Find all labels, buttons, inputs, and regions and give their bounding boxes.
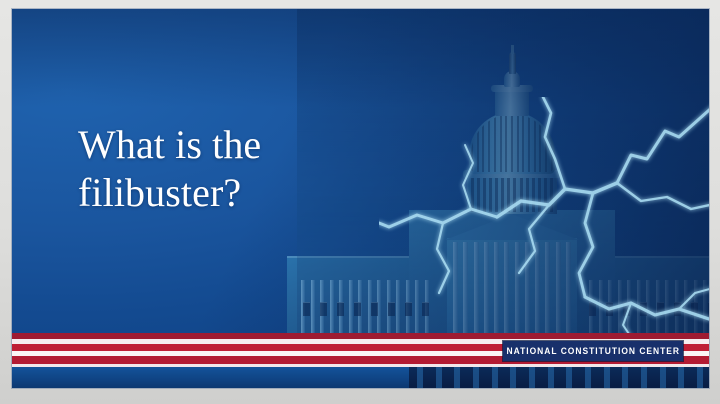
logo-text: NATIONAL CONSTITUTION CENTER	[506, 346, 679, 356]
headline-line-2: filibuster?	[78, 169, 408, 217]
slide-stage: What is the filibuster? NATIONAL CONSTIT…	[12, 9, 709, 388]
video-slide-card: What is the filibuster? NATIONAL CONSTIT…	[0, 0, 720, 404]
stripe-white-3	[12, 364, 709, 367]
lower-colonnade	[417, 367, 703, 388]
page-title: What is the filibuster?	[78, 121, 408, 217]
headline-line-1: What is the	[78, 121, 408, 169]
national-constitution-center-logo: NATIONAL CONSTITUTION CENTER	[503, 341, 683, 361]
